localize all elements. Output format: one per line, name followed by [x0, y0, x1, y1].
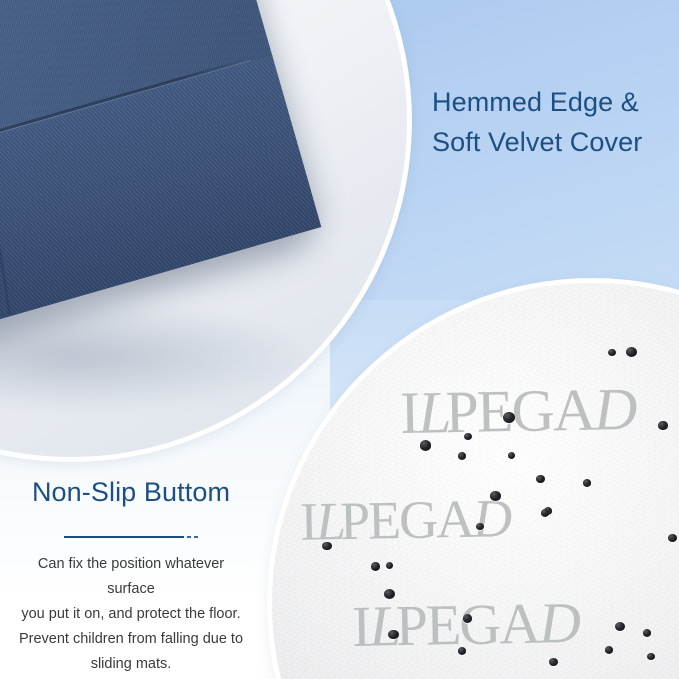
mat-antislip-dot [371, 562, 380, 571]
feature-description: Can fix the position whatever surface yo… [0, 552, 262, 677]
mat-antislip-dot [503, 412, 515, 423]
feature-block-nonslip: Non-Slip Buttom Can fix the position wha… [0, 476, 262, 677]
mat-brand-watermark: ILPEGAD [399, 375, 632, 448]
mat-antislip-dot [583, 479, 591, 487]
feature-title: Non-Slip Buttom [0, 476, 262, 508]
divider-tick [194, 536, 198, 538]
headline-line-2: Soft Velvet Cover [432, 122, 679, 162]
mat-antislip-dot [605, 646, 613, 653]
feature-divider [0, 528, 262, 538]
mat-antislip-dot [658, 421, 667, 429]
mat-antislip-dot [536, 475, 544, 483]
mat-antislip-dot [476, 523, 484, 530]
mat-antislip-dot [668, 534, 677, 542]
headline-line-1: Hemmed Edge & [432, 82, 679, 122]
feature-body-line: you put it on, and protect the floor. [14, 602, 248, 627]
mat-antislip-dot [541, 509, 549, 516]
mat-antislip-dot [490, 491, 500, 500]
mat-antislip-dot [647, 653, 655, 660]
mat-antislip-dot [458, 647, 467, 655]
product-photo-nonslip-mat: ILPEGAD ILPEGAD ILPEGAD [272, 283, 679, 679]
headline-hemmed-edge: Hemmed Edge & Soft Velvet Cover [432, 82, 679, 162]
divider-rule [64, 536, 184, 538]
mat-antislip-dot [458, 452, 466, 460]
mat-antislip-dot [608, 349, 616, 357]
mat-antislip-dot [388, 630, 398, 639]
mat-antislip-dot [322, 542, 331, 550]
infographic-canvas: ILPEGAD ILPEGAD ILPEGAD Hemmed Edge & So… [0, 0, 679, 679]
mat-antislip-dot [643, 629, 651, 637]
mat-antislip-dot [464, 433, 472, 440]
feature-body-line: Can fix the position whatever surface [14, 552, 248, 602]
divider-tick [187, 536, 191, 538]
feature-body-line: sliding mats. [14, 652, 248, 677]
feature-body-line: Prevent children from falling due to [14, 627, 248, 652]
mat-antislip-dot [420, 440, 431, 450]
